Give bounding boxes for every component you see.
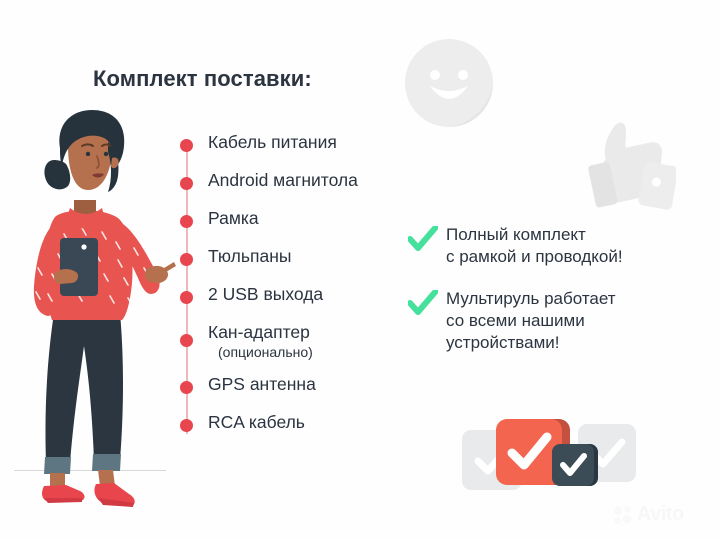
page-title: Комплект поставки: (93, 66, 312, 92)
checkbox-navy (552, 444, 594, 486)
green-check-icon (408, 290, 438, 316)
woman-pointing-illustration (8, 108, 178, 508)
list-item: GPS антенна (176, 370, 416, 408)
list-item: Android магнитола (176, 166, 416, 204)
avito-watermark: Avito (613, 503, 684, 526)
list-item-label: GPS антенна (208, 374, 316, 395)
list-item: RCA кабель (176, 408, 416, 446)
list-item-label: Рамка (208, 208, 259, 229)
green-check-icon (408, 226, 438, 252)
benefit-line: Мультируль работает (446, 288, 708, 310)
contents-list: Кабель питания Android магнитола Рамка Т… (176, 128, 416, 446)
benefit-line: устройствами! (446, 332, 708, 354)
list-item: Тюльпаны (176, 242, 416, 280)
smiley-face-icon (404, 38, 494, 128)
avito-wordmark: Avito (637, 503, 684, 526)
list-item-label: RCA кабель (208, 412, 305, 433)
bullet-dot-icon (180, 381, 193, 394)
list-item-label: Android магнитола (208, 170, 358, 191)
list-item-label: Кан-адаптер (208, 322, 310, 343)
poster-canvas: Комплект поставки: Кабель питания Androi… (0, 0, 720, 540)
benefit-line: со всеми нашими (446, 310, 708, 332)
bullet-dot-icon (180, 334, 193, 347)
list-item: Кабель питания (176, 128, 416, 166)
list-item-label: Тюльпаны (208, 246, 291, 267)
bullet-dot-icon (180, 419, 193, 432)
benefit-item: Полный комплект с рамкой и проводкой! (408, 224, 708, 268)
benefit-text: Мультируль работает со всеми нашими устр… (446, 288, 708, 354)
list-item: Рамка (176, 204, 416, 242)
bullet-dot-icon (180, 291, 193, 304)
benefit-line: Полный комплект (446, 224, 708, 246)
thumbs-up-icon (576, 112, 676, 216)
bullet-dot-icon (180, 253, 193, 266)
avito-logo-icon (613, 505, 633, 525)
list-item-label: 2 USB выхода (208, 284, 323, 305)
list-item-note: (опционально) (218, 344, 313, 360)
list-item-label: Кабель питания (208, 132, 337, 153)
benefit-line: с рамкой и проводкой! (446, 246, 708, 268)
list-item: Кан-адаптер (опционально) (176, 318, 416, 370)
bullet-dot-icon (180, 215, 193, 228)
benefit-text: Полный комплект с рамкой и проводкой! (446, 224, 708, 268)
checkbox-cluster-illustration (458, 408, 638, 494)
bullet-dot-icon (180, 139, 193, 152)
benefits-list: Полный комплект с рамкой и проводкой! Му… (408, 224, 708, 372)
list-item: 2 USB выхода (176, 280, 416, 318)
bullet-dot-icon (180, 177, 193, 190)
benefit-item: Мультируль работает со всеми нашими устр… (408, 288, 708, 354)
